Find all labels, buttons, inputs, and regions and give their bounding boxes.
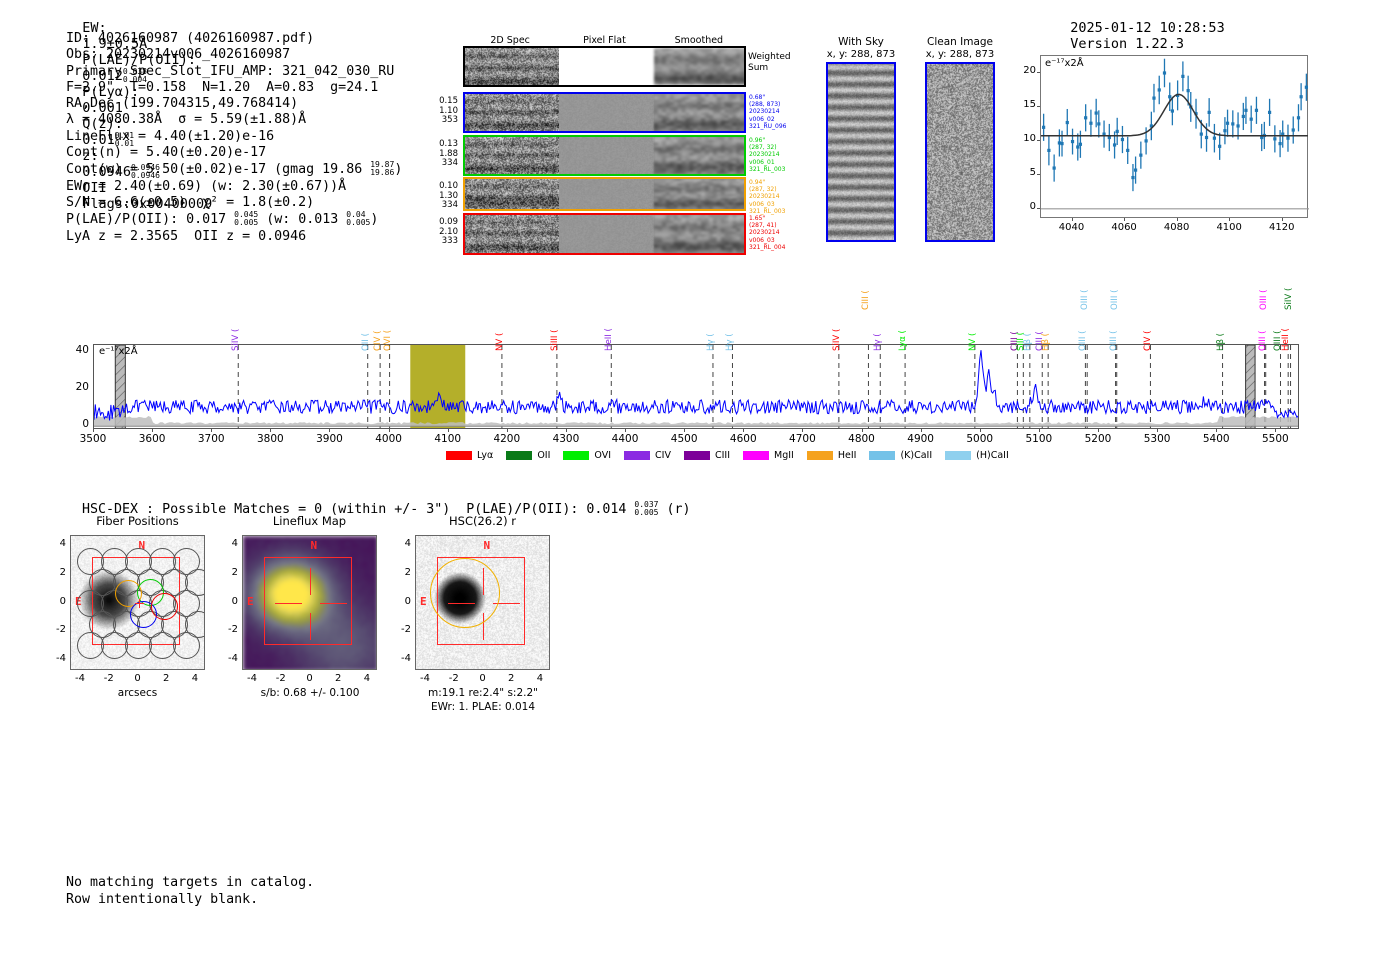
legend-label: (H)CaII <box>976 450 1009 461</box>
bottom-panel-xtick: 4 <box>525 673 555 684</box>
legend-label: OII <box>537 450 550 461</box>
cutout-title-0: With Sky <box>806 36 916 48</box>
full-spectrum-xtick-mark <box>1216 429 1217 432</box>
spec2d-row-right-labels-3: 1.65"(287, 41)20230214v006_03321_RL_004 <box>749 215 809 251</box>
timestamp: 2025-01-12 10:28:53 <box>1070 20 1224 36</box>
spec2d-row-right-labels-1: 0.96"(287, 32)20230214v006_01321_RL_003 <box>749 137 809 173</box>
full-spectrum-xtick-mark <box>1098 429 1099 432</box>
info-id: ID: 4026160987 (4026160987.pdf) <box>66 31 402 47</box>
header-timestamp-version: 2025-01-12 10:28:53 Version 1.22.3 <box>1054 4 1241 52</box>
cutout-title-1: Clean Image <box>905 36 1015 48</box>
full-spectrum-xtick-mark <box>448 429 449 432</box>
fit-plot-ytick: 5 <box>1016 167 1036 178</box>
spectrum-line-label-21: Hβ ( <box>1216 333 1226 351</box>
crosshair-top <box>310 568 312 595</box>
legend-swatch <box>684 451 710 460</box>
legend-label: Lyα <box>477 450 493 461</box>
spectrum-line-label-6: HeII ( <box>604 328 614 351</box>
bottom-panel-xtick: 2 <box>151 673 181 684</box>
full-spectrum-xtick: 3700 <box>189 433 233 445</box>
bottom-panel-ytick: -4 <box>394 653 411 664</box>
bottom-panel-ytick: 0 <box>49 596 66 607</box>
spectrum-line-label-11: Lyα ( <box>898 330 908 351</box>
full-spectrum-xtick-mark <box>1275 429 1276 432</box>
spectrum-line-label-1: OII ( <box>361 333 371 351</box>
fit-plot-xtick: 4080 <box>1159 222 1195 233</box>
legend-swatch <box>563 451 589 460</box>
fiber-circle <box>101 632 128 659</box>
cutout-subtitle-1: x, y: 288, 873 <box>905 49 1015 60</box>
full-spectrum-xtick: 5000 <box>958 433 1002 445</box>
spectrum-line-label-22: OIII ( <box>1258 331 1268 351</box>
info-seeing: F=2.9" T=0.158 N=1.20 A=0.83 g=24.1 <box>66 80 402 96</box>
fit-plot-ytick-mark <box>1037 140 1040 141</box>
full-spectrum-xtick-mark <box>980 429 981 432</box>
full-spectrum-xtick: 4800 <box>840 433 884 445</box>
object-info-block: ID: 4026160987 (4026160987.pdf) Obs: 202… <box>66 31 402 245</box>
legend-item-3: CIV <box>624 450 671 461</box>
bottom-panel-title-1: Lineflux Map <box>212 514 407 528</box>
full-spectrum-xtick: 3900 <box>307 433 351 445</box>
compass-north-1: N <box>311 539 318 552</box>
crosshair-bottom <box>310 613 312 640</box>
bottom-panel-image-1: NE <box>242 535 377 670</box>
legend-swatch <box>446 451 472 460</box>
spectrum-line-label-20: CIV ( <box>1143 331 1153 352</box>
full-spectrum-ytick: 0 <box>65 418 89 430</box>
full-spectrum-xtick: 3600 <box>130 433 174 445</box>
fit-plot-ytick: 15 <box>1016 99 1036 110</box>
legend-label: CIII <box>715 450 730 461</box>
spec2d-row-left-labels-0: 0.151.10353 <box>424 97 458 126</box>
legend-item-7: (K)CaII <box>869 450 932 461</box>
full-spectrum-xtick: 4500 <box>662 433 706 445</box>
crosshair-left <box>275 603 302 605</box>
full-spectrum-xtick-mark <box>211 429 212 432</box>
legend-item-5: MgII <box>743 450 794 461</box>
full-spectrum-xtick-mark <box>389 429 390 432</box>
info-plae: P(LAE)/P(OII): 0.017 0.0450.005 (w: 0.01… <box>66 211 402 228</box>
legend-swatch <box>945 451 971 460</box>
spec2d-col-title-0: 2D Spec <box>470 35 550 46</box>
bottom-panel-xtick: -2 <box>439 673 469 684</box>
info-obs: Obs: 20230214v006_4026160987 <box>66 47 402 63</box>
spectrum-line-label-18: OIII ( <box>1078 331 1088 351</box>
legend-label: CIV <box>655 450 671 461</box>
fiber-circle <box>125 632 152 659</box>
fit-plot-xtick: 4060 <box>1106 222 1142 233</box>
bottom-panel-ytick: -2 <box>394 624 411 635</box>
spectrum-line-label-15: Hβ ( <box>1023 333 1033 351</box>
cutout-image-1 <box>925 62 995 242</box>
full-spectrum-xtick-mark <box>93 429 94 432</box>
bottom-panel-xtick: 0 <box>295 673 325 684</box>
bottom-panel-title-2: HSC(26.2) r <box>385 514 580 528</box>
fit-plot-xtick: 4100 <box>1211 222 1247 233</box>
bottom-panel-xtick: 0 <box>123 673 153 684</box>
info-redshifts: LyA z = 2.3565 OII z = 0.0946 <box>66 229 402 245</box>
full-spectrum-xtick: 4000 <box>367 433 411 445</box>
spectrum-line-label-3: OVI ( <box>383 330 393 351</box>
legend-swatch <box>807 451 833 460</box>
info-cont-n: Cont(n) = 5.40(±0.20)e-17 <box>66 145 402 161</box>
full-spectrum-xtick-mark <box>270 429 271 432</box>
spec2d-row-2 <box>463 177 746 211</box>
full-spectrum-xtick: 4700 <box>780 433 824 445</box>
fit-plot-xtick: 4040 <box>1054 222 1090 233</box>
legend-swatch <box>743 451 769 460</box>
bottom-panel-xtick: 2 <box>496 673 526 684</box>
full-spectrum-xtick-mark <box>152 429 153 432</box>
bottom-panel-ytick: -2 <box>49 624 66 635</box>
info-wavelength: λ = 4080.38Å σ = 5.59(±1.88)Å <box>66 112 402 128</box>
full-spectrum-xtick-mark <box>329 429 330 432</box>
spec2d-weighted-sum-label: Weighted Sum <box>748 52 791 74</box>
spectrum-line-label-7: Hγ ( <box>706 333 716 351</box>
target-marker-v <box>139 599 141 608</box>
full-spectrum-yunit: e⁻¹⁷x2Å <box>99 346 138 357</box>
bottom-panel-xtick: 4 <box>180 673 210 684</box>
full-spectrum-xtick: 3800 <box>248 433 292 445</box>
bottom-panel-image-0: NE <box>70 535 205 670</box>
fit-plot-ytick-mark <box>1037 174 1040 175</box>
spectrum-line-label-26: OIII ( <box>1080 290 1090 310</box>
legend-label: OVI <box>594 450 611 461</box>
full-spectrum-xtick-mark <box>566 429 567 432</box>
bottom-panel-ytick: 2 <box>49 567 66 578</box>
fit-plot-xtick-mark <box>1282 218 1283 221</box>
fit-plot-ytick-mark <box>1037 72 1040 73</box>
fit-plot-ytick-mark <box>1037 208 1040 209</box>
spectrum-line-label-25: CIII ( <box>861 290 871 310</box>
info-sn: S/N = 6.6(±0.5) χ² = 1.8(±0.2) <box>66 195 402 211</box>
bottom-panel-caption-2: m:19.1 re:2.4" s:2.2" <box>373 687 593 699</box>
spec2d-row-right-labels-2: 0.94"(287, 32)20230214v006_03321_RL_003 <box>749 179 809 215</box>
full-spectrum-xtick: 3500 <box>71 433 115 445</box>
fit-plot-ytick: 10 <box>1016 133 1036 144</box>
legend-item-8: (H)CaII <box>945 450 1009 461</box>
fit-plot-xtick-mark <box>1124 218 1125 221</box>
fiber-circle <box>173 632 200 659</box>
info-ewr: EWr = 2.40(±0.69) (w: 2.30(±0.67))Å <box>66 179 402 195</box>
bottom-panel-ytick: 4 <box>221 538 238 549</box>
full-spectrum-xtick-mark <box>802 429 803 432</box>
spectrum-line-label-12: NV ( <box>968 333 978 351</box>
full-spectrum-xtick: 4300 <box>544 433 588 445</box>
bottom-panel-xtick: -4 <box>237 673 267 684</box>
spec2d-row-right-labels-0: 0.68"(288, 873)20230214v006_02321_RU_096 <box>749 94 809 130</box>
fit-plot-ytick: 0 <box>1016 201 1036 212</box>
spectrum-line-label-9: SiIV ( <box>832 329 842 351</box>
full-spectrum-xtick-mark <box>1157 429 1158 432</box>
fiber-circle <box>77 632 104 659</box>
legend-item-2: OVI <box>563 450 611 461</box>
info-radec: RA,Dec (199.704315,49.768414) <box>66 96 402 112</box>
spectrum-legend: LyαOIIOVICIVCIIIMgIIHeII(K)CaII(H)CaII <box>446 445 1022 464</box>
bottom-panel-ytick: 0 <box>221 596 238 607</box>
full-spectrum-xtick: 5100 <box>1017 433 1061 445</box>
fit-plot-xtick-mark <box>1072 218 1073 221</box>
bottom-panel-xtick: -4 <box>410 673 440 684</box>
bottom-panel-ytick: -4 <box>49 653 66 664</box>
aperture-circle <box>430 558 500 628</box>
spectrum-line-label-10: Hγ ( <box>873 333 883 351</box>
hsc-dex-summary: HSC-DEX : Possible Matches = 0 (within +… <box>66 486 691 517</box>
fit-plot-ytick-mark <box>1037 106 1040 107</box>
spectrum-line-label-24: HeII ( <box>1281 328 1291 351</box>
legend-swatch <box>624 451 650 460</box>
spectrum-line-label-2: CIV ( <box>373 331 383 352</box>
full-spectrum-ytick: 20 <box>65 381 89 393</box>
full-spectrum-xtick: 4200 <box>485 433 529 445</box>
full-spectrum-xtick: 4600 <box>721 433 765 445</box>
fit-plot-axes <box>1040 55 1308 218</box>
full-spectrum-xtick-mark <box>921 429 922 432</box>
bottom-panel-image-2: NE <box>415 535 550 670</box>
bottom-panel-xtick: 0 <box>468 673 498 684</box>
spec2d-col-title-1: Pixel Flat <box>565 35 645 46</box>
compass-north-2: N <box>484 539 491 552</box>
bottom-panel-ytick: 0 <box>394 596 411 607</box>
bottom-panel-ytick: -4 <box>221 653 238 664</box>
legend-item-6: HeII <box>807 450 857 461</box>
bottom-panel-ytick: 4 <box>394 538 411 549</box>
legend-swatch <box>506 451 532 460</box>
fov-box-1 <box>264 557 352 645</box>
crosshair-right <box>320 603 347 605</box>
info-lineflux: LineFlux = 4.40(±1.20)e-16 <box>66 129 402 145</box>
spec2d-weighted-sum-row <box>463 46 746 87</box>
spectrum-line-label-27: OIII ( <box>1110 290 1120 310</box>
cutout-image-0 <box>826 62 896 242</box>
footer-line-1: No matching targets in catalog. <box>66 875 314 892</box>
full-spectrum-xtick-mark <box>862 429 863 432</box>
compass-east-2: E <box>420 595 427 608</box>
fit-plot-xtick: 4120 <box>1264 222 1300 233</box>
spectrum-line-label-29: SiIV ( <box>1284 288 1294 310</box>
full-spectrum-xtick-mark <box>1039 429 1040 432</box>
bottom-panel-xtick: -2 <box>94 673 124 684</box>
bottom-panel-xtick: 4 <box>352 673 382 684</box>
bottom-panel-ytick: 2 <box>221 567 238 578</box>
fit-plot-xtick-mark <box>1177 218 1178 221</box>
full-spectrum-xtick: 5400 <box>1194 433 1238 445</box>
fit-plot-yunit: e⁻¹⁷x2Å <box>1045 58 1084 69</box>
full-spectrum-xtick: 4900 <box>899 433 943 445</box>
legend-label: HeII <box>838 450 857 461</box>
full-spectrum-xtick: 5500 <box>1253 433 1297 445</box>
spec2d-row-left-labels-2: 0.101.30334 <box>424 182 458 211</box>
legend-item-0: Lyα <box>446 450 493 461</box>
version: Version 1.22.3 <box>1070 36 1184 52</box>
fiber-circle-highlight <box>151 593 178 620</box>
full-spectrum-xtick: 4400 <box>603 433 647 445</box>
fit-plot-xtick-mark <box>1229 218 1230 221</box>
fiber-circle <box>149 632 176 659</box>
legend-swatch <box>869 451 895 460</box>
info-cont-w: Cont(w) = 5.50(±0.02)e-17 (gmag 19.86 19… <box>66 161 402 178</box>
bottom-panel-caption2-2: EWr: 1. PLAE: 0.014 <box>373 701 593 713</box>
legend-label: (K)CaII <box>900 450 932 461</box>
spectrum-line-label-4: NV ( <box>495 333 505 351</box>
full-spectrum-xtick-mark <box>625 429 626 432</box>
footer-line-2: Row intentionally blank. <box>66 892 314 909</box>
spectrum-line-label-8: Hγ ( <box>725 333 735 351</box>
cutout-subtitle-0: x, y: 288, 873 <box>806 49 916 60</box>
spectrum-line-label-17: Hβ ( <box>1041 333 1051 351</box>
bottom-panel-xtick: 2 <box>323 673 353 684</box>
spec2d-row-1 <box>463 135 746 176</box>
full-spectrum-xtick: 5300 <box>1135 433 1179 445</box>
full-spectrum-axes <box>93 344 1299 429</box>
bottom-panel-ytick: 2 <box>394 567 411 578</box>
spectrum-line-label-28: OIII ( <box>1259 290 1269 310</box>
bottom-panel-ytick: 4 <box>49 538 66 549</box>
spectrum-line-label-5: SiIII ( <box>550 329 560 351</box>
full-spectrum-xtick: 5200 <box>1076 433 1120 445</box>
spec2d-row-3 <box>463 213 746 255</box>
bottom-panel-title-0: Fiber Positions <box>40 514 235 528</box>
bottom-panel-xtick: -4 <box>65 673 95 684</box>
spec2d-col-title-2: Smoothed <box>659 35 739 46</box>
fit-plot-ytick: 20 <box>1016 65 1036 76</box>
spec2d-row-left-labels-1: 0.131.88334 <box>424 140 458 169</box>
full-spectrum-ytick: 40 <box>65 344 89 356</box>
full-spectrum-xtick-mark <box>743 429 744 432</box>
compass-east-1: E <box>247 595 254 608</box>
spec2d-row-0 <box>463 92 746 133</box>
legend-item-1: OII <box>506 450 550 461</box>
spec2d-row-left-labels-3: 0.092.10333 <box>424 218 458 247</box>
legend-label: MgII <box>774 450 794 461</box>
bottom-panel-xtick: -2 <box>266 673 296 684</box>
full-spectrum-xtick: 4100 <box>426 433 470 445</box>
legend-item-4: CIII <box>684 450 730 461</box>
full-spectrum-xtick-mark <box>684 429 685 432</box>
bottom-panel-ytick: -2 <box>221 624 238 635</box>
full-spectrum-xtick-mark <box>507 429 508 432</box>
spectrum-line-label-0: SiIV ( <box>231 329 241 351</box>
spectrum-line-label-19: OIII ( <box>1109 331 1119 351</box>
info-spec-slot: Primary Spec_Slot_IFU_AMP: 321_042_030_R… <box>66 64 402 80</box>
footer-note: No matching targets in catalog. Row inte… <box>66 875 314 908</box>
